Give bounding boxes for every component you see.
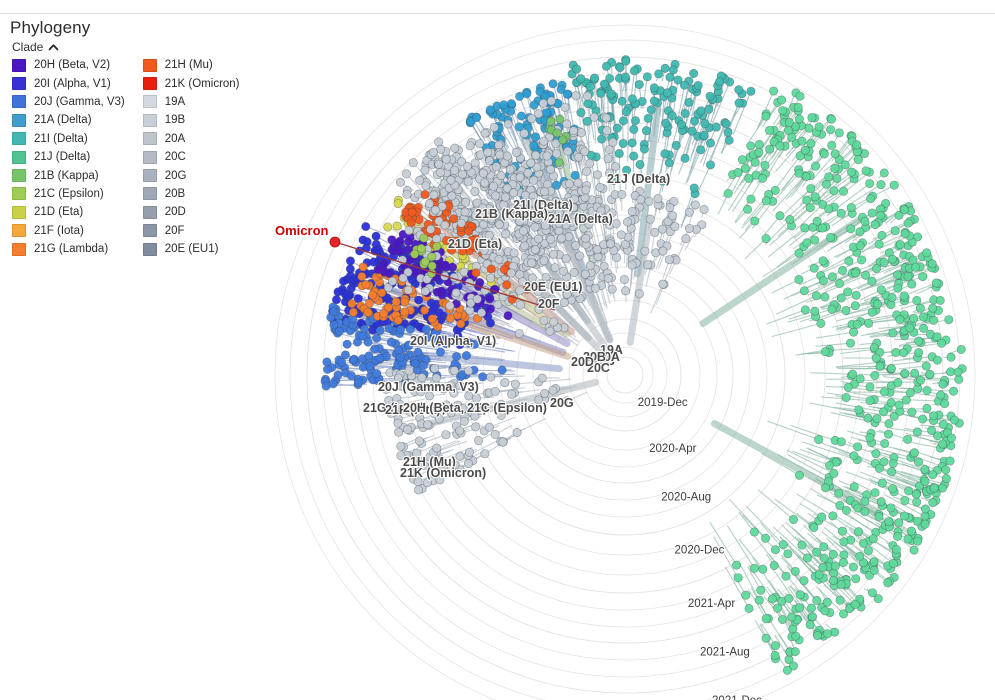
- tree-tip-node[interactable]: [491, 387, 499, 395]
- tree-tip-node[interactable]: [807, 604, 815, 612]
- tree-tip-node[interactable]: [894, 284, 902, 292]
- tree-tip-node[interactable]: [564, 147, 572, 155]
- tree-tip-node[interactable]: [462, 198, 470, 206]
- tree-tip-node[interactable]: [393, 222, 401, 230]
- tree-tip-node[interactable]: [722, 119, 730, 127]
- tree-tip-node[interactable]: [826, 233, 834, 241]
- tree-tip-node[interactable]: [724, 189, 732, 197]
- tree-tip-node[interactable]: [618, 190, 626, 198]
- tree-tip-node[interactable]: [387, 338, 395, 346]
- tree-tip-node[interactable]: [906, 324, 914, 332]
- tree-tip-node[interactable]: [532, 151, 540, 159]
- tree-tip-node[interactable]: [530, 141, 538, 149]
- tree-tip-node[interactable]: [517, 112, 525, 120]
- tree-tip-node[interactable]: [957, 345, 965, 353]
- tree-tip-node[interactable]: [877, 180, 885, 188]
- legend-item-21a-delta[interactable]: 21A (Delta): [12, 111, 125, 129]
- tree-tip-node[interactable]: [449, 215, 457, 223]
- tree-tip-node[interactable]: [685, 224, 693, 232]
- tree-tip-node[interactable]: [911, 263, 919, 271]
- tree-tip-node[interactable]: [529, 176, 537, 184]
- tree-tip-node[interactable]: [771, 651, 779, 659]
- legend-item-20f[interactable]: 20F: [143, 222, 240, 240]
- tree-tip-node[interactable]: [600, 80, 608, 88]
- tree-tip-node[interactable]: [419, 361, 427, 369]
- tree-tip-node[interactable]: [805, 124, 813, 132]
- chevron-up-icon[interactable]: [48, 42, 59, 53]
- legend-item-20g[interactable]: 20G: [143, 166, 240, 184]
- tree-tip-node[interactable]: [421, 258, 429, 266]
- tree-tip-nodes[interactable]: [321, 56, 966, 675]
- tree-tip-node[interactable]: [887, 399, 895, 407]
- tree-tip-node[interactable]: [766, 145, 774, 153]
- tree-tip-node[interactable]: [896, 315, 904, 323]
- tree-tip-node[interactable]: [425, 199, 433, 207]
- tree-tip-node[interactable]: [478, 373, 486, 381]
- tree-tip-node[interactable]: [372, 334, 380, 342]
- legend-item-21d-eta[interactable]: 21D (Eta): [12, 203, 125, 221]
- tree-tip-node[interactable]: [429, 148, 437, 156]
- tree-tip-node[interactable]: [826, 125, 834, 133]
- tree-tip-node[interactable]: [628, 139, 636, 147]
- tree-tip-node[interactable]: [783, 666, 791, 674]
- tree-tip-node[interactable]: [879, 408, 887, 416]
- tree-tip-node[interactable]: [615, 149, 623, 157]
- tree-tip-node[interactable]: [762, 112, 770, 120]
- tree-tip-node[interactable]: [852, 575, 860, 583]
- tree-tip-node[interactable]: [394, 316, 402, 324]
- tree-tip-node[interactable]: [409, 159, 417, 167]
- tree-tip-node[interactable]: [842, 393, 850, 401]
- tree-tip-node[interactable]: [499, 438, 507, 446]
- tree-tip-node[interactable]: [368, 291, 376, 299]
- tree-tip-node[interactable]: [910, 369, 918, 377]
- tree-tip-node[interactable]: [492, 162, 500, 170]
- tree-tip-node[interactable]: [785, 118, 793, 126]
- tree-tip-node[interactable]: [486, 305, 494, 313]
- tree-tip-node[interactable]: [647, 106, 655, 114]
- tree-tip-node[interactable]: [527, 159, 535, 167]
- tree-tip-node[interactable]: [771, 546, 779, 554]
- tree-tip-node[interactable]: [803, 239, 811, 247]
- tree-tip-node[interactable]: [795, 115, 803, 123]
- tree-tip-node[interactable]: [852, 291, 860, 299]
- tree-tip-node[interactable]: [697, 107, 705, 115]
- tree-tip-node[interactable]: [359, 332, 367, 340]
- tree-tip-node[interactable]: [842, 306, 850, 314]
- tree-tip-node[interactable]: [776, 142, 784, 150]
- tree-tip-node[interactable]: [622, 108, 630, 116]
- tree-tip-node[interactable]: [436, 168, 444, 176]
- tree-tip-node[interactable]: [788, 613, 796, 621]
- tree-tip-node[interactable]: [769, 87, 777, 95]
- tree-tip-node[interactable]: [864, 546, 872, 554]
- tree-tip-node[interactable]: [810, 523, 818, 531]
- tree-tip-node[interactable]: [546, 327, 554, 335]
- tree-tip-node[interactable]: [661, 150, 669, 158]
- legend-item-20b[interactable]: 20B: [143, 185, 240, 203]
- tree-tip-node[interactable]: [893, 271, 901, 279]
- tree-tip-node[interactable]: [665, 255, 673, 263]
- tree-tip-node[interactable]: [954, 368, 962, 376]
- tree-tip-node[interactable]: [913, 537, 921, 545]
- tree-tip-node[interactable]: [607, 90, 615, 98]
- tree-tip-node[interactable]: [921, 477, 929, 485]
- tree-tip-node[interactable]: [839, 558, 847, 566]
- tree-tip-node[interactable]: [558, 234, 566, 242]
- tree-tip-node[interactable]: [901, 229, 909, 237]
- tree-tip-node[interactable]: [659, 247, 667, 255]
- tree-tip-node[interactable]: [773, 604, 781, 612]
- tree-tip-node[interactable]: [798, 137, 806, 145]
- tree-tip-node[interactable]: [735, 99, 743, 107]
- tree-tip-node[interactable]: [810, 264, 818, 272]
- tree-tip-node[interactable]: [817, 319, 825, 327]
- tree-tip-node[interactable]: [880, 169, 888, 177]
- tree-tip-node[interactable]: [385, 269, 393, 277]
- tree-tip-node[interactable]: [913, 498, 921, 506]
- tree-tip-node[interactable]: [801, 146, 809, 154]
- tree-tip-node[interactable]: [540, 257, 548, 265]
- tree-tip-node[interactable]: [820, 150, 828, 158]
- tree-tip-node[interactable]: [829, 550, 837, 558]
- tree-tip-node[interactable]: [856, 375, 864, 383]
- tree-tip-node[interactable]: [913, 296, 921, 304]
- tree-tip-node[interactable]: [486, 106, 494, 114]
- tree-tip-node[interactable]: [586, 82, 594, 90]
- tree-tip-node[interactable]: [681, 109, 689, 117]
- tree-tip-node[interactable]: [866, 396, 874, 404]
- tree-tip-node[interactable]: [821, 293, 829, 301]
- tree-tip-node[interactable]: [823, 630, 831, 638]
- tree-tip-node[interactable]: [837, 438, 845, 446]
- tree-tip-node[interactable]: [819, 257, 827, 265]
- tree-tip-node[interactable]: [762, 197, 770, 205]
- tree-tip-node[interactable]: [640, 145, 648, 153]
- legend-item-21f-iota[interactable]: 21F (Iota): [12, 222, 125, 240]
- tree-tip-node[interactable]: [803, 196, 811, 204]
- legend-item-21b-kappa[interactable]: 21B (Kappa): [12, 166, 125, 184]
- tree-tip-node[interactable]: [407, 219, 415, 227]
- tree-tip-node[interactable]: [502, 230, 510, 238]
- tree-tip-node[interactable]: [712, 123, 720, 131]
- tree-tip-node[interactable]: [421, 190, 429, 198]
- tree-tip-node[interactable]: [845, 257, 853, 265]
- tree-tip-node[interactable]: [410, 250, 418, 258]
- tree-tip-node[interactable]: [549, 386, 557, 394]
- tree-tip-node[interactable]: [724, 128, 732, 136]
- tree-tip-node[interactable]: [674, 76, 682, 84]
- tree-tip-node[interactable]: [700, 131, 708, 139]
- tree-tip-node[interactable]: [788, 133, 796, 141]
- tree-tip-node[interactable]: [755, 140, 763, 148]
- tree-tip-node[interactable]: [921, 505, 929, 513]
- tree-tip-node[interactable]: [346, 265, 354, 273]
- tree-tip-node[interactable]: [904, 272, 912, 280]
- tree-tip-node[interactable]: [520, 129, 528, 137]
- legend-item-20c[interactable]: 20C: [143, 148, 240, 166]
- tree-tip-node[interactable]: [394, 428, 402, 436]
- tree-tip-node[interactable]: [540, 316, 548, 324]
- tree-tip-node[interactable]: [875, 512, 883, 520]
- tree-tip-node[interactable]: [836, 596, 844, 604]
- tree-tip-node[interactable]: [751, 158, 759, 166]
- tree-tip-node[interactable]: [747, 142, 755, 150]
- tree-tip-node[interactable]: [929, 304, 937, 312]
- tree-tip-node[interactable]: [822, 180, 830, 188]
- tree-tip-node[interactable]: [495, 220, 503, 228]
- tree-tip-node[interactable]: [821, 607, 829, 615]
- tree-tip-node[interactable]: [866, 434, 874, 442]
- tree-tip-node[interactable]: [504, 120, 512, 128]
- tree-tip-node[interactable]: [349, 308, 357, 316]
- tree-tip-node[interactable]: [831, 562, 839, 570]
- tree-tip-node[interactable]: [403, 425, 411, 433]
- tree-tip-node[interactable]: [738, 155, 746, 163]
- tree-tip-node[interactable]: [854, 527, 862, 535]
- tree-tip-node[interactable]: [503, 152, 511, 160]
- legend-item-20h-beta-v2[interactable]: 20H (Beta, V2): [12, 56, 125, 74]
- tree-tip-node[interactable]: [838, 527, 846, 535]
- tree-tip-node[interactable]: [765, 126, 773, 134]
- tree-tip-node[interactable]: [847, 203, 855, 211]
- tree-tip-node[interactable]: [456, 452, 464, 460]
- tree-tip-node[interactable]: [402, 170, 410, 178]
- tree-tip-node[interactable]: [491, 192, 499, 200]
- tree-tip-node[interactable]: [825, 205, 833, 213]
- tree-tip-node[interactable]: [823, 598, 831, 606]
- tree-tip-node[interactable]: [597, 89, 605, 97]
- tree-tip-node[interactable]: [420, 234, 428, 242]
- tree-tip-node[interactable]: [796, 591, 804, 599]
- tree-tip-node[interactable]: [851, 269, 859, 277]
- tree-tip-node[interactable]: [929, 316, 937, 324]
- tree-tip-node[interactable]: [414, 348, 422, 356]
- tree-tip-node[interactable]: [864, 319, 872, 327]
- tree-tip-node[interactable]: [494, 300, 502, 308]
- tree-tip-node[interactable]: [903, 435, 911, 443]
- tree-tip-node[interactable]: [549, 250, 557, 258]
- tree-tip-node[interactable]: [365, 352, 373, 360]
- tree-tip-node[interactable]: [831, 164, 839, 172]
- tree-tip-node[interactable]: [933, 356, 941, 364]
- tree-tip-node[interactable]: [502, 281, 510, 289]
- tree-tip-node[interactable]: [878, 479, 886, 487]
- tree-tip-node[interactable]: [778, 615, 786, 623]
- tree-tip-node[interactable]: [827, 115, 835, 123]
- tree-tip-node[interactable]: [806, 621, 814, 629]
- tree-tip-node[interactable]: [635, 80, 643, 88]
- tree-tip-node[interactable]: [406, 325, 414, 333]
- tree-tip-node[interactable]: [916, 304, 924, 312]
- tree-tip-node[interactable]: [602, 114, 610, 122]
- tree-tip-node[interactable]: [631, 117, 639, 125]
- tree-tip-node[interactable]: [373, 369, 381, 377]
- tree-tip-node[interactable]: [811, 162, 819, 170]
- tree-tip-node[interactable]: [896, 240, 904, 248]
- tree-tip-node[interactable]: [672, 141, 680, 149]
- tree-tip-node[interactable]: [876, 362, 884, 370]
- tree-tip-node[interactable]: [393, 240, 401, 248]
- tree-tip-node[interactable]: [561, 103, 569, 111]
- tree-tip-node[interactable]: [770, 561, 778, 569]
- tree-tip-node[interactable]: [374, 245, 382, 253]
- tree-tip-node[interactable]: [741, 164, 749, 172]
- legend-item-20d[interactable]: 20D: [143, 203, 240, 221]
- tree-tip-node[interactable]: [798, 541, 806, 549]
- tree-tip-node[interactable]: [928, 471, 936, 479]
- tree-tip-node[interactable]: [828, 305, 836, 313]
- tree-tip-node[interactable]: [885, 420, 893, 428]
- tree-tip-node[interactable]: [489, 182, 497, 190]
- tree-tip-node[interactable]: [423, 420, 431, 428]
- tree-tip-node[interactable]: [540, 389, 548, 397]
- tree-tip-node[interactable]: [913, 517, 921, 525]
- tree-tip-node[interactable]: [547, 117, 555, 125]
- tree-tip-node[interactable]: [515, 329, 523, 337]
- tree-tip-node[interactable]: [414, 486, 422, 494]
- tree-tip-node[interactable]: [562, 254, 570, 262]
- tree-tip-node[interactable]: [803, 554, 811, 562]
- tree-tip-node[interactable]: [481, 450, 489, 458]
- tree-tip-node[interactable]: [887, 504, 895, 512]
- tree-tip-node[interactable]: [945, 315, 953, 323]
- tree-tip-node[interactable]: [839, 187, 847, 195]
- tree-tip-node[interactable]: [847, 225, 855, 233]
- tree-tip-node[interactable]: [889, 329, 897, 337]
- tree-tip-node[interactable]: [742, 591, 750, 599]
- legend-item-21j-delta[interactable]: 21J (Delta): [12, 148, 125, 166]
- tree-tip-node[interactable]: [821, 348, 829, 356]
- tree-tip-node[interactable]: [629, 152, 637, 160]
- tree-tip-node[interactable]: [831, 150, 839, 158]
- tree-tip-node[interactable]: [441, 221, 449, 229]
- tree-tip-node[interactable]: [750, 528, 758, 536]
- tree-tip-node[interactable]: [835, 279, 843, 287]
- tree-tip-node[interactable]: [732, 561, 740, 569]
- tree-tip-node[interactable]: [919, 313, 927, 321]
- tree-tip-node[interactable]: [430, 304, 438, 312]
- tree-tip-node[interactable]: [464, 177, 472, 185]
- tree-tip-node[interactable]: [837, 580, 845, 588]
- tree-tip-node[interactable]: [408, 208, 416, 216]
- tree-tip-node[interactable]: [859, 539, 867, 547]
- tree-tip-node[interactable]: [507, 390, 515, 398]
- tree-tip-node[interactable]: [465, 227, 473, 235]
- tree-tip-node[interactable]: [460, 417, 468, 425]
- tree-tip-node[interactable]: [813, 217, 821, 225]
- tree-tip-node[interactable]: [570, 126, 578, 134]
- tree-tip-node[interactable]: [559, 267, 567, 275]
- tree-tip-node[interactable]: [807, 139, 815, 147]
- tree-tip-node[interactable]: [617, 231, 625, 239]
- tree-tip-node[interactable]: [849, 563, 857, 571]
- tree-tip-node[interactable]: [857, 256, 865, 264]
- tree-tip-node[interactable]: [426, 225, 434, 233]
- tree-tip-node[interactable]: [399, 274, 407, 282]
- tree-tip-node[interactable]: [811, 193, 819, 201]
- tree-tip-node[interactable]: [540, 187, 548, 195]
- tree-tip-node[interactable]: [929, 498, 937, 506]
- tree-tip-node[interactable]: [937, 339, 945, 347]
- tree-tip-node[interactable]: [516, 301, 524, 309]
- tree-tip-node[interactable]: [873, 300, 881, 308]
- tree-tip-node[interactable]: [534, 110, 542, 118]
- tree-tip-node[interactable]: [904, 219, 912, 227]
- tree-tip-node[interactable]: [706, 161, 714, 169]
- tree-tip-node[interactable]: [635, 290, 643, 298]
- tree-tip-node[interactable]: [923, 386, 931, 394]
- tree-tip-node[interactable]: [881, 439, 889, 447]
- tree-tip-node[interactable]: [762, 234, 770, 242]
- tree-tip-node[interactable]: [334, 288, 342, 296]
- tree-tip-node[interactable]: [851, 600, 859, 608]
- tree-tip-node[interactable]: [323, 365, 331, 373]
- tree-tip-node[interactable]: [385, 324, 393, 332]
- tree-tip-node[interactable]: [747, 195, 755, 203]
- tree-tip-node[interactable]: [855, 406, 863, 414]
- tree-tip-node[interactable]: [800, 287, 808, 295]
- tree-tip-node[interactable]: [577, 108, 585, 116]
- tree-tip-node[interactable]: [820, 554, 828, 562]
- tree-tip-node[interactable]: [480, 179, 488, 187]
- tree-tip-node[interactable]: [461, 208, 469, 216]
- tree-tip-node[interactable]: [590, 113, 598, 121]
- tree-tip-node[interactable]: [868, 308, 876, 316]
- tree-tip-node[interactable]: [930, 484, 938, 492]
- tree-tip-node[interactable]: [682, 234, 690, 242]
- tree-tip-node[interactable]: [570, 268, 578, 276]
- tree-tip-node[interactable]: [330, 321, 338, 329]
- tree-tip-node[interactable]: [844, 288, 852, 296]
- tree-tip-node[interactable]: [350, 356, 358, 364]
- tree-tip-node[interactable]: [875, 240, 883, 248]
- tree-tip-node[interactable]: [583, 92, 591, 100]
- tree-tip-node[interactable]: [481, 129, 489, 137]
- tree-tip-node[interactable]: [530, 101, 538, 109]
- legend-item-20a[interactable]: 20A: [143, 130, 240, 148]
- tree-tip-node[interactable]: [366, 362, 374, 370]
- tree-tip-node[interactable]: [862, 271, 870, 279]
- tree-tip-node[interactable]: [755, 596, 763, 604]
- tree-tip-node[interactable]: [596, 183, 604, 191]
- tree-tip-node[interactable]: [906, 389, 914, 397]
- tree-tip-node[interactable]: [928, 260, 936, 268]
- tree-tip-node[interactable]: [580, 147, 588, 155]
- tree-tip-node[interactable]: [829, 576, 837, 584]
- tree-tip-node[interactable]: [947, 353, 955, 361]
- tree-tip-node[interactable]: [939, 420, 947, 428]
- tree-tip-node[interactable]: [929, 412, 937, 420]
- tree-tip-node[interactable]: [758, 174, 766, 182]
- tree-tip-node[interactable]: [559, 136, 567, 144]
- tree-tip-node[interactable]: [853, 320, 861, 328]
- tree-tip-node[interactable]: [527, 259, 535, 267]
- tree-tip-node[interactable]: [343, 340, 351, 348]
- tree-tip-node[interactable]: [586, 159, 594, 167]
- tree-tip-node[interactable]: [654, 194, 662, 202]
- tree-tip-node[interactable]: [464, 367, 472, 375]
- tree-tip-node[interactable]: [547, 235, 555, 243]
- tree-tip-node[interactable]: [550, 318, 558, 326]
- tree-tip-node[interactable]: [616, 63, 624, 71]
- tree-tip-node[interactable]: [485, 423, 493, 431]
- tree-tip-node[interactable]: [421, 287, 429, 295]
- legend-item-21g-lambda[interactable]: 21G (Lambda): [12, 240, 125, 258]
- tree-tip-node[interactable]: [913, 428, 921, 436]
- tree-tip-node[interactable]: [806, 203, 814, 211]
- tree-tip-node[interactable]: [851, 301, 859, 309]
